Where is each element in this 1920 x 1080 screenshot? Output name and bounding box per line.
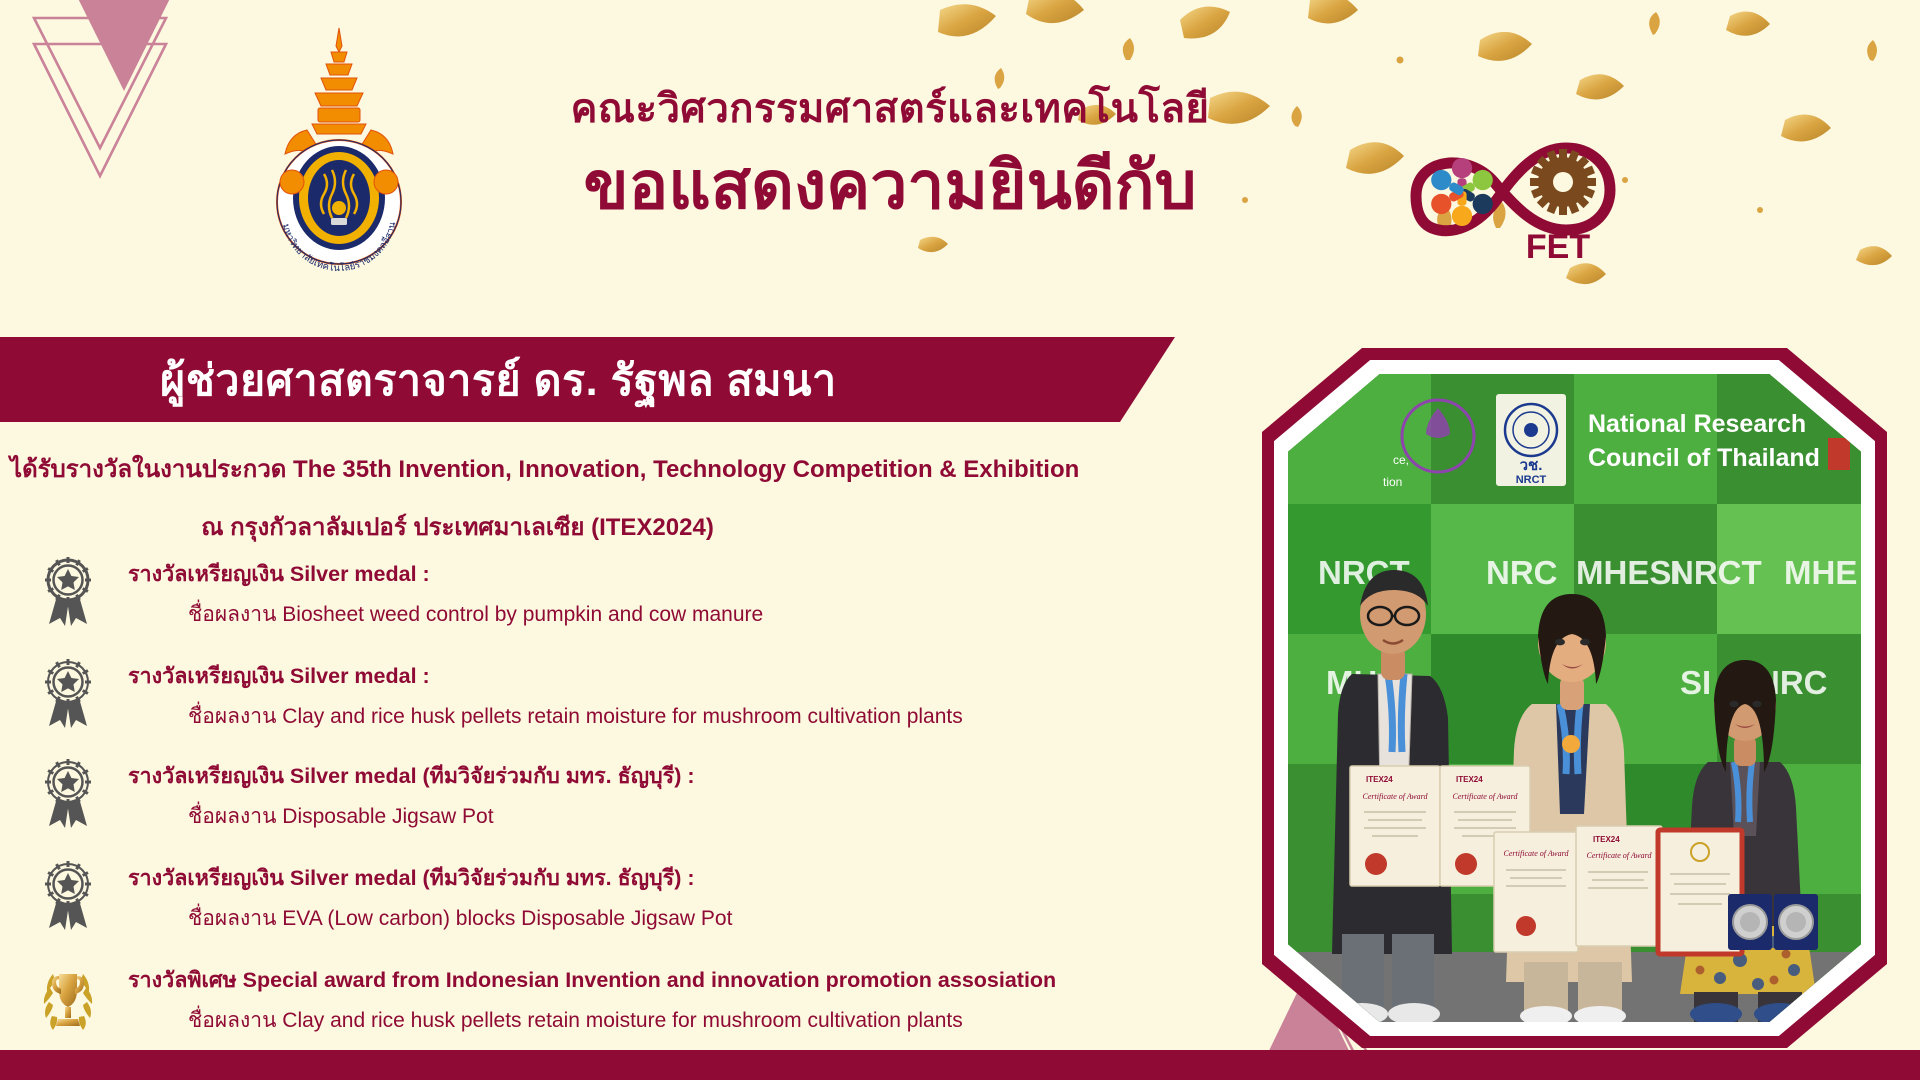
award-work-name: ชื่อผลงาน EVA (Low carbon) blocks Dispos…	[188, 892, 1220, 932]
bottom-accent-bar	[0, 1050, 1920, 1080]
svg-text:Certificate of Award: Certificate of Award	[1453, 792, 1519, 801]
award-title: รางวัลเหรียญเงิน Silver medal :	[128, 556, 1220, 588]
award-work-name: ชื่อผลงาน Clay and rice husk pellets ret…	[188, 994, 1220, 1034]
award-work-name: ชื่อผลงาน Clay and rice husk pellets ret…	[188, 690, 1220, 730]
svg-text:ce,: ce,	[1393, 453, 1409, 467]
svg-text:tion: tion	[1383, 475, 1402, 489]
award-title: รางวัลพิเศษ Special award from Indonesia…	[128, 962, 1220, 994]
fet-logo-text: FET	[1526, 228, 1590, 266]
svg-text:NRCT: NRCT	[1670, 554, 1762, 591]
svg-text:ITEX24: ITEX24	[1366, 775, 1393, 784]
medal-ribbon-icon	[40, 556, 96, 628]
trophy-laurel-icon	[40, 962, 96, 1034]
header-text-block: คณะวิศวกรรมศาสตร์และเทคโนโลยี ขอแสดงความ…	[470, 86, 1310, 224]
award-work-name: ชื่อผลงาน Disposable Jigsaw Pot	[188, 790, 1220, 830]
svg-text:ITEX24: ITEX24	[1593, 835, 1620, 844]
award-title: รางวัลเหรียญเงิน Silver medal (ทีมวิจัยร…	[128, 860, 1220, 892]
honoree-name: ผู้ช่วยศาสตราจารย์ ดร. รัฐพล สมนา	[160, 346, 837, 414]
award-item: รางวัลเหรียญเงิน Silver medal (ทีมวิจัยร…	[40, 860, 1220, 932]
svg-text:National Research: National Research	[1588, 410, 1806, 438]
congratulations-poster: มหาวิทยาลัยเทคโนโลยีราชมงคลอีสาน คณะวิศว…	[0, 0, 1920, 1080]
medal-ribbon-icon	[40, 758, 96, 830]
svg-text:NRCT: NRCT	[1516, 474, 1547, 486]
photo-content: ce, tion วช. NRCT National Research Coun…	[1288, 374, 1861, 1022]
gear-icon	[1530, 149, 1596, 215]
svg-text:ITEX24: ITEX24	[1456, 775, 1483, 784]
fet-logo: FET	[1398, 124, 1628, 269]
awards-list: รางวัลเหรียญเงิน Silver medal : ชื่อผลงา…	[40, 556, 1220, 1034]
award-item: รางวัลเหรียญเงิน Silver medal : ชื่อผลงา…	[40, 556, 1220, 628]
award-item: รางวัลเหรียญเงิน Silver medal (ทีมวิจัยร…	[40, 758, 1220, 830]
university-seal-icon: มหาวิทยาลัยเทคโนโลยีราชมงคลอีสาน	[252, 22, 427, 272]
award-item: รางวัลเหรียญเงิน Silver medal : ชื่อผลงา…	[40, 658, 1220, 730]
faculty-name-line: คณะวิศวกรรมศาสตร์และเทคโนโลยี	[470, 86, 1310, 132]
svg-text:SI: SI	[1680, 664, 1711, 701]
congratulations-line: ขอแสดงความยินดีกับ	[470, 148, 1310, 224]
location-line: ณ กรุงกัวลาลัมเปอร์ ประเทศมาเลเซีย (ITEX…	[0, 513, 1215, 543]
medal-ribbon-icon	[40, 658, 96, 730]
award-work-name: ชื่อผลงาน Biosheet weed control by pumpk…	[188, 588, 1220, 628]
award-title: รางวัลเหรียญเงิน Silver medal (ทีมวิจัยร…	[128, 758, 1220, 790]
svg-text:MHE: MHE	[1784, 554, 1857, 591]
award-item: รางวัลพิเศษ Special award from Indonesia…	[40, 962, 1220, 1034]
honoree-name-banner: ผู้ช่วยศาสตราจารย์ ดร. รัฐพล สมนา	[0, 337, 1175, 422]
svg-text:NRC: NRC	[1486, 554, 1558, 591]
competition-line: ได้รับรางวัลในงานประกวด The 35th Inventi…	[0, 455, 1215, 485]
poster-header: มหาวิทยาลัยเทคโนโลยีราชมงคลอีสาน คณะวิศว…	[0, 0, 1920, 330]
award-title: รางวัลเหรียญเงิน Silver medal :	[128, 658, 1220, 690]
svg-text:วช.: วช.	[1520, 457, 1543, 474]
award-ceremony-photo: ce, tion วช. NRCT National Research Coun…	[1262, 348, 1887, 1048]
svg-text:Certificate of Award: Certificate of Award	[1587, 851, 1653, 860]
svg-text:Council of Thailand: Council of Thailand	[1588, 444, 1820, 472]
svg-text:MHESI: MHESI	[1576, 554, 1681, 591]
svg-text:Certificate of Award: Certificate of Award	[1363, 792, 1429, 801]
award-description: ได้รับรางวัลในงานประกวด The 35th Inventi…	[0, 455, 1215, 543]
rmuti-university-seal: มหาวิทยาลัยเทคโนโลยีราชมงคลอีสาน	[252, 22, 427, 272]
svg-text:Certificate of Award: Certificate of Award	[1504, 849, 1570, 858]
medal-ribbon-icon	[40, 860, 96, 932]
fet-infinity-logo-icon: FET	[1398, 124, 1628, 269]
